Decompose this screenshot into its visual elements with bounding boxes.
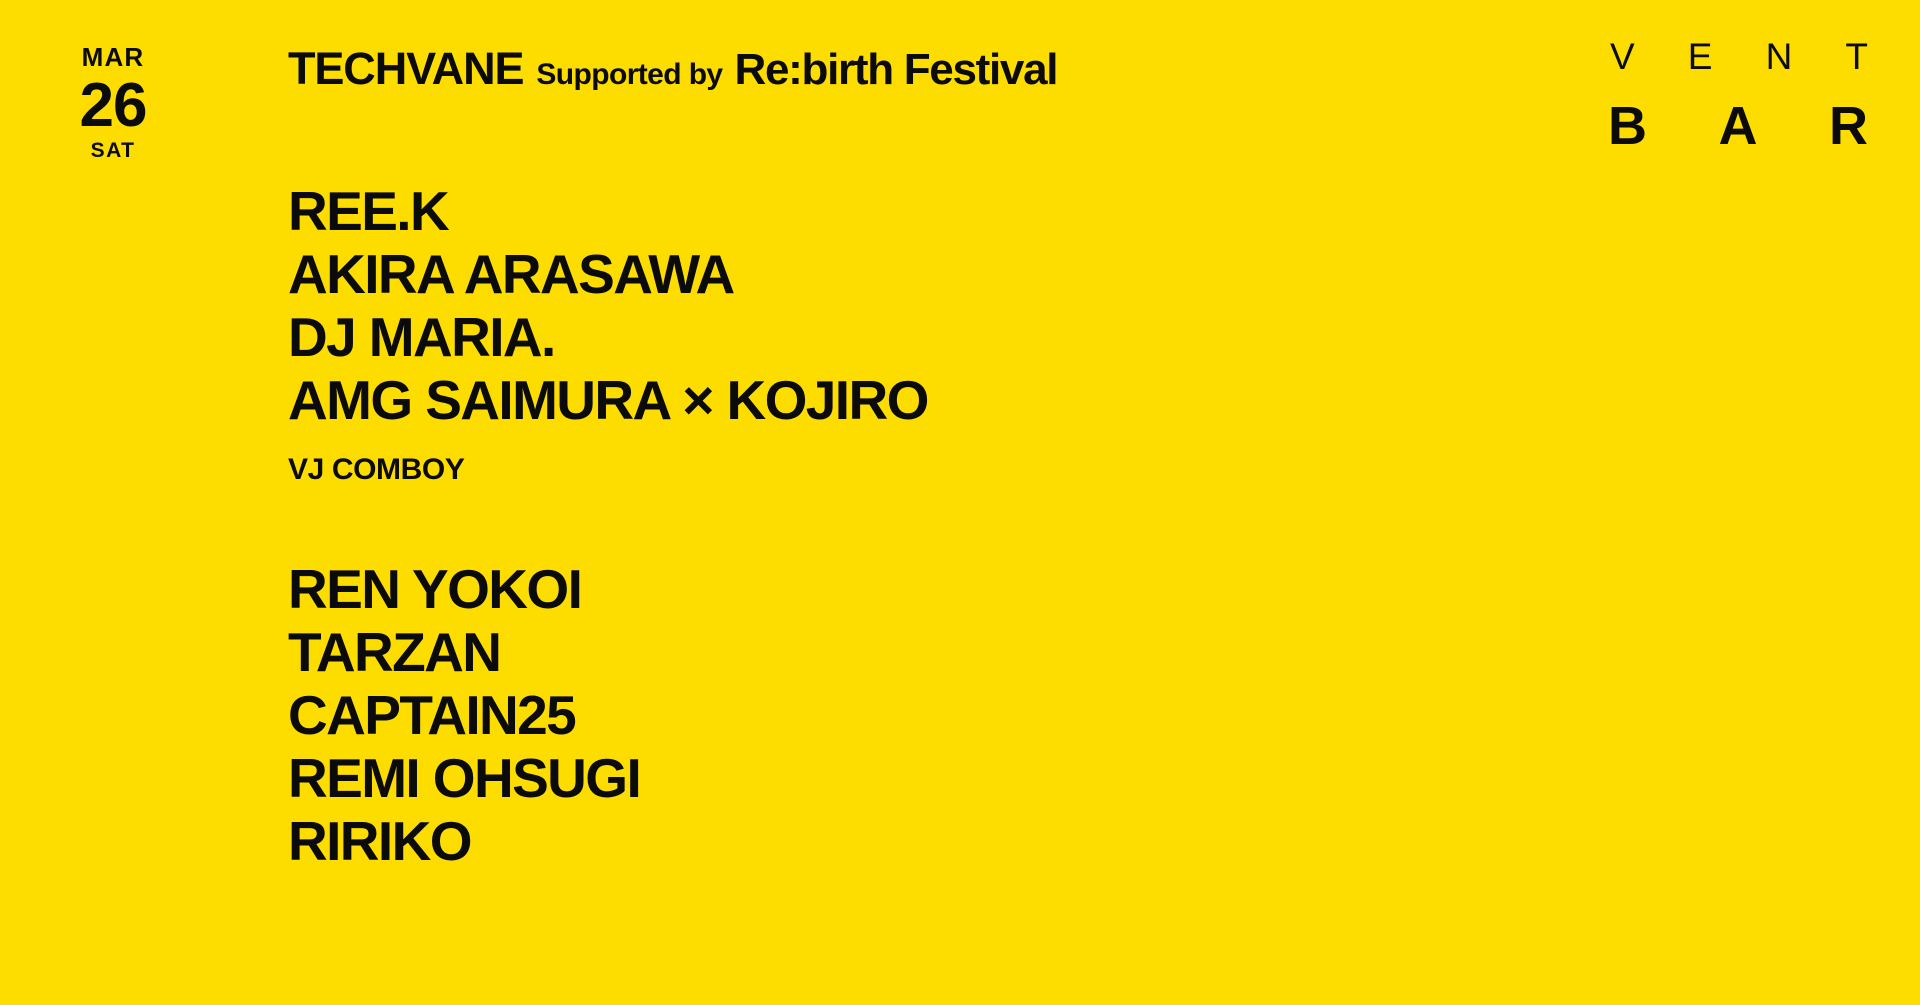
artist-name: REN YOKOI — [288, 558, 1488, 621]
event-flyer: MAR 26 SAT TECHVANE Supported by Re:birt… — [0, 0, 1920, 1005]
venue-logo-vent: V E N T — [1604, 38, 1872, 75]
event-title-supported-by: Supported by — [536, 60, 722, 90]
lineup-group-divider — [288, 490, 1488, 558]
date-weekday: SAT — [48, 140, 178, 161]
event-date-block: MAR 26 SAT — [48, 44, 178, 161]
lineup-group-secondary: REN YOKOI TARZAN CAPTAIN25 REMI OHSUGI R… — [288, 558, 1488, 873]
artist-name: REE.K — [288, 180, 1488, 243]
venue-logo: V E N T B A R — [1604, 38, 1872, 153]
artist-name: CAPTAIN25 — [288, 684, 1488, 747]
venue-logo-bar: B A R — [1604, 99, 1872, 153]
venue-logo-letter-n: N — [1766, 38, 1793, 75]
venue-logo-letter-t: T — [1845, 38, 1868, 75]
date-day: 26 — [48, 76, 178, 136]
vj-name: VJ COMBOY — [288, 450, 1488, 490]
event-title-main: TECHVANE — [288, 46, 523, 91]
venue-logo-letter-a: A — [1719, 99, 1758, 153]
lineup: REE.K AKIRA ARASAWA DJ MARIA. AMG SAIMUR… — [288, 180, 1488, 873]
venue-logo-letter-r: R — [1829, 99, 1868, 153]
venue-logo-letter-e: E — [1688, 38, 1713, 75]
artist-name: AMG SAIMURA × KOJIRO — [288, 369, 1488, 432]
lineup-group-primary: REE.K AKIRA ARASAWA DJ MARIA. AMG SAIMUR… — [288, 180, 1488, 490]
artist-name: AKIRA ARASAWA — [288, 243, 1488, 306]
artist-name: DJ MARIA. — [288, 306, 1488, 369]
date-month: MAR — [48, 44, 178, 70]
venue-logo-letter-v: V — [1610, 38, 1635, 75]
venue-logo-letter-b: B — [1608, 99, 1647, 153]
artist-name: TARZAN — [288, 621, 1488, 684]
artist-name: RIRIKO — [288, 810, 1488, 873]
event-title-festival: Re:birth Festival — [735, 48, 1058, 92]
event-title: TECHVANE Supported by Re:birth Festival — [288, 46, 1057, 92]
artist-name: REMI OHSUGI — [288, 747, 1488, 810]
